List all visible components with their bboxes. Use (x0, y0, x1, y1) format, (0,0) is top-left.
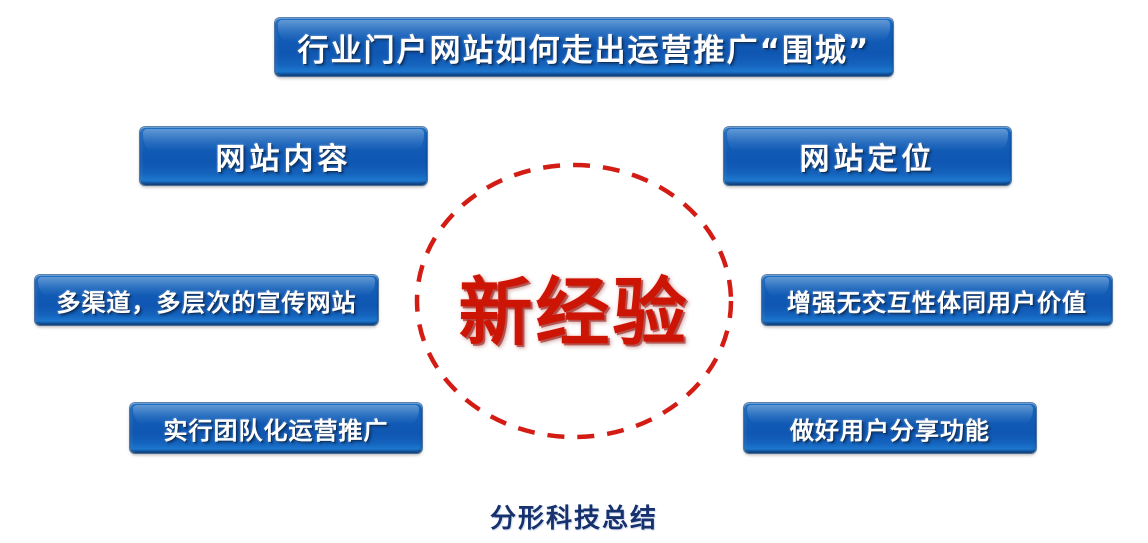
node-enhance-user-value-label: 增强无交互性体同用户价值 (787, 283, 1087, 318)
node-team-operation-label: 实行团队化运营推广 (164, 411, 389, 446)
node-website-content[interactable]: 网站内容 (140, 127, 427, 185)
node-website-positioning-label: 网站定位 (800, 134, 936, 178)
node-multi-channel-promotion-label: 多渠道，多层次的宣传网站 (57, 283, 357, 318)
node-website-content-label: 网站内容 (216, 134, 352, 178)
slide-canvas: 行业门户网站如何走出运营推广“围城” 网站内容 网站定位 多渠道，多层次的宣传网… (0, 0, 1148, 543)
node-user-sharing-feature[interactable]: 做好用户分享功能 (744, 403, 1036, 453)
node-multi-channel-promotion[interactable]: 多渠道，多层次的宣传网站 (35, 275, 378, 325)
node-user-sharing-feature-label: 做好用户分享功能 (790, 411, 990, 446)
node-team-operation[interactable]: 实行团队化运营推广 (130, 403, 422, 453)
footer-caption: 分形科技总结 (0, 498, 1148, 535)
node-website-positioning[interactable]: 网站定位 (724, 127, 1011, 185)
node-enhance-user-value[interactable]: 增强无交互性体同用户价值 (762, 275, 1112, 325)
title-banner-label: 行业门户网站如何走出运营推广“围城” (298, 25, 871, 70)
center-headline: 新经验 (413, 262, 735, 350)
title-banner[interactable]: 行业门户网站如何走出运营推广“围城” (275, 18, 893, 76)
